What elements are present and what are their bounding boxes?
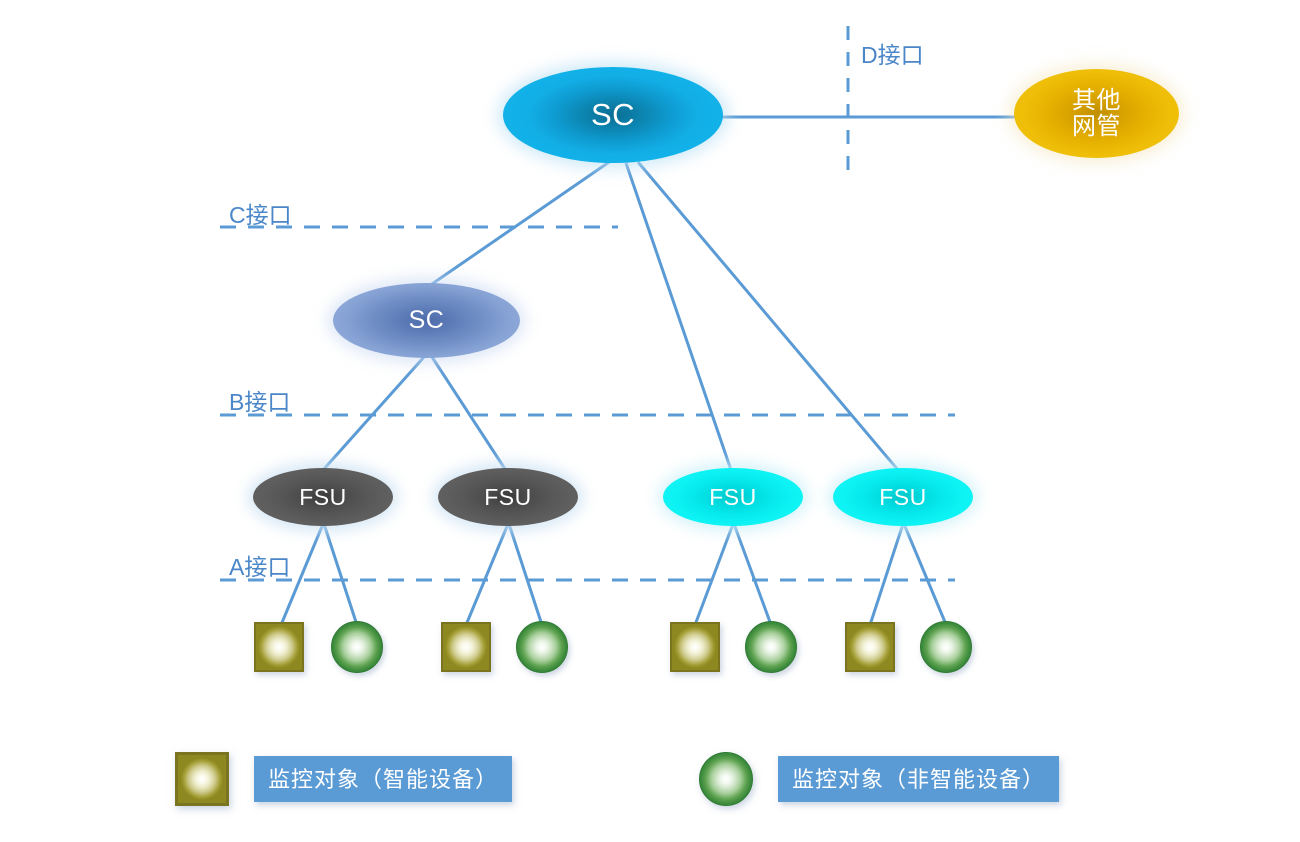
legend-item-intelligent-device: 监控对象（智能设备） xyxy=(175,752,512,806)
square-device-icon-2[interactable] xyxy=(441,622,491,672)
link-sc-mid-to-fsu-1 xyxy=(324,357,424,469)
node-sc-top-label: SC xyxy=(591,99,635,132)
node-sc-mid[interactable]: SC xyxy=(333,283,520,358)
link-fsu-3-to-square-3 xyxy=(695,524,733,625)
link-fsu-4-to-square-4 xyxy=(870,524,903,625)
circle-device-icon-3[interactable] xyxy=(745,621,797,673)
legend-label-intelligent-device: 监控对象（智能设备） xyxy=(254,756,512,802)
square-device-icon-1[interactable] xyxy=(254,622,304,672)
link-sc-top-to-sc-mid xyxy=(432,160,612,284)
legend-item-non-intelligent-device: 监控对象（非智能设备） xyxy=(699,752,1059,806)
node-other-nms-label-line1: 其他 xyxy=(1072,88,1121,113)
interface-label-b: B接口 xyxy=(229,383,290,417)
legend-circle-device-icon xyxy=(699,752,753,806)
node-other-nms-label: 其他 网管 xyxy=(1072,88,1121,138)
node-other-nms[interactable]: 其他 网管 xyxy=(1014,69,1179,158)
link-fsu-2-to-circle-2 xyxy=(509,524,541,622)
square-device-icon-3[interactable] xyxy=(670,622,720,672)
node-fsu-1[interactable]: FSU xyxy=(253,468,393,526)
node-fsu-1-label: FSU xyxy=(299,485,347,509)
link-sc-top-to-fsu-4 xyxy=(638,162,898,470)
link-sc-mid-to-fsu-2 xyxy=(432,357,505,469)
link-fsu-4-to-circle-4 xyxy=(904,524,945,622)
node-fsu-4[interactable]: FSU xyxy=(833,468,973,526)
node-sc-top[interactable]: SC xyxy=(503,67,723,163)
circle-device-icon-4[interactable] xyxy=(920,621,972,673)
link-fsu-2-to-square-2 xyxy=(466,524,508,625)
link-sc-top-to-fsu-3 xyxy=(626,163,731,470)
circle-device-icon-2[interactable] xyxy=(516,621,568,673)
legend-square-device-icon xyxy=(175,752,229,806)
node-fsu-3-label: FSU xyxy=(709,485,757,509)
node-fsu-4-label: FSU xyxy=(879,485,927,509)
node-other-nms-label-line2: 网管 xyxy=(1072,114,1121,139)
link-fsu-3-to-circle-3 xyxy=(734,524,770,622)
interface-label-c: C接口 xyxy=(229,196,292,230)
node-fsu-2[interactable]: FSU xyxy=(438,468,578,526)
link-fsu-1-to-circle-1 xyxy=(324,524,356,622)
circle-device-icon-1[interactable] xyxy=(331,621,383,673)
diagram-canvas: SC SC 其他 网管 FSU FSU FSU FSU D接口 C接口 B接口 … xyxy=(0,0,1300,842)
node-fsu-3[interactable]: FSU xyxy=(663,468,803,526)
interface-label-a: A接口 xyxy=(229,548,290,582)
interface-label-d: D接口 xyxy=(861,36,924,70)
legend-label-non-intelligent-device: 监控对象（非智能设备） xyxy=(778,756,1059,802)
square-device-icon-4[interactable] xyxy=(845,622,895,672)
node-sc-mid-label: SC xyxy=(409,307,445,333)
node-fsu-2-label: FSU xyxy=(484,485,532,509)
